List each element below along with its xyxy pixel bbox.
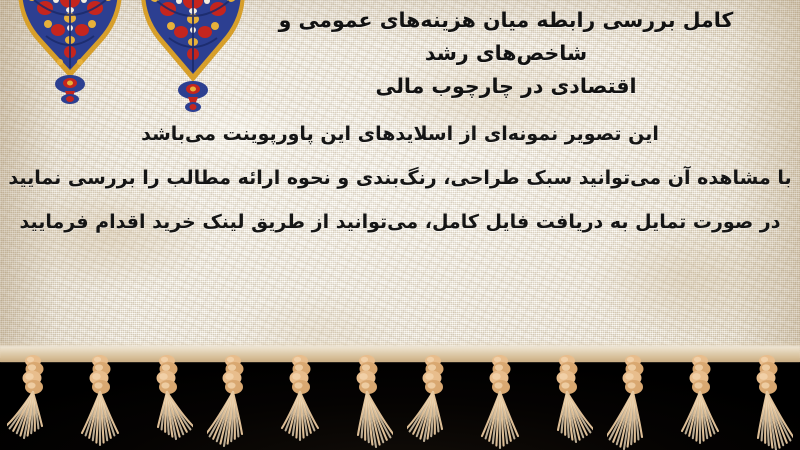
fringe-tassel (141, 354, 193, 450)
carpet-fringe (0, 340, 800, 450)
body-line-1: این تصویر نمونه‌ای از اسلایدهای این پاور… (0, 112, 800, 156)
fringe-tassel (274, 354, 326, 450)
slide-title-line-2: اقتصادی در چارچوب مالی (226, 70, 786, 103)
fringe-tassel (541, 354, 593, 450)
fringe-tassel (674, 354, 726, 450)
body-line-3: در صورت تمایل به دریافت فایل کامل، می‌تو… (0, 200, 800, 244)
slide-canvas: کامل بررسی رابطه میان هزینه‌های عمومی و … (0, 0, 800, 450)
fringe-tassel (207, 354, 259, 450)
body-line-2: با مشاهده آن می‌توانید سبک طراحی، رنگ‌بن… (0, 156, 800, 200)
fringe-tassel (407, 354, 459, 450)
slide-title: کامل بررسی رابطه میان هزینه‌های عمومی و … (226, 4, 786, 103)
fringe-tassel (74, 354, 126, 450)
fringe-tassel (741, 354, 793, 450)
slide-title-line-1: کامل بررسی رابطه میان هزینه‌های عمومی و … (226, 4, 786, 70)
fringe-tassel (607, 354, 659, 450)
fringe-tassel (7, 354, 59, 450)
fringe-tassel (474, 354, 526, 450)
slide-body: این تصویر نمونه‌ای از اسلایدهای این پاور… (0, 112, 800, 244)
fringe-tassel (341, 354, 393, 450)
